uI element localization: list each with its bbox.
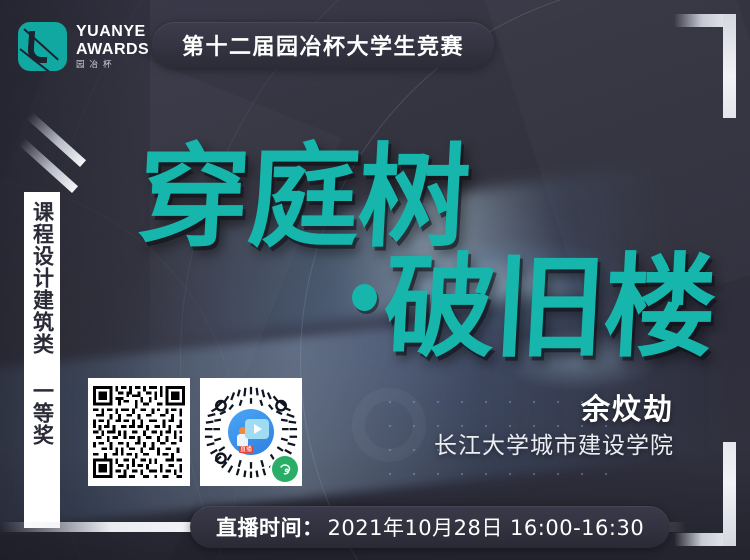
award-category-text: 课程设计建筑类 一等奖 xyxy=(32,201,53,446)
presenter-organization: 长江大学城市建设学院 xyxy=(434,434,674,459)
broadcast-time-label: 直播时间： xyxy=(216,512,324,542)
live-badge-label: 直播 xyxy=(239,446,253,453)
competition-title-text: 第十二届园冶杯大学生竞赛 xyxy=(182,29,464,61)
light-flare xyxy=(390,240,630,330)
yuanye-logo-icon xyxy=(18,22,67,71)
corner-bracket-top-right xyxy=(674,14,736,118)
logo-chinese-name: 园冶杯 xyxy=(76,61,149,70)
wechat-miniprogram-qr[interactable]: 直播 xyxy=(200,378,302,486)
competition-title-pill: 第十二届园冶杯大学生竞赛 xyxy=(152,22,494,68)
qr-code-icon xyxy=(93,383,185,481)
broadcast-time-value: 2021年10月28日 16:00-16:30 xyxy=(328,512,645,542)
light-flare xyxy=(500,330,660,390)
miniprogram-center-icon: 直播 xyxy=(228,409,274,455)
live-play-icon xyxy=(245,419,269,439)
presenter-name: 余炆劫 xyxy=(434,394,674,426)
qr-code[interactable] xyxy=(88,378,190,486)
bracket-vertical xyxy=(723,442,736,546)
broadcast-time-pill: 直播时间： 2021年10月28日 16:00-16:30 xyxy=(190,506,670,548)
footer-rule-left xyxy=(0,522,200,532)
presenter-block: 余炆劫 长江大学城市建设学院 xyxy=(434,394,674,459)
poster-root: YUANYE AWARDS 园冶杯 第十二届园冶杯大学生竞赛 课程设计建筑类 一… xyxy=(0,0,750,560)
brand-logo: YUANYE AWARDS 园冶杯 xyxy=(18,22,149,71)
logo-line1: YUANYE xyxy=(76,24,149,40)
bracket-vertical xyxy=(723,14,736,118)
wechat-miniprogram-badge-icon xyxy=(272,456,298,482)
miniprogram-glyph-icon xyxy=(277,461,293,477)
award-category-bar: 课程设计建筑类 一等奖 xyxy=(24,192,60,528)
qr-code-group: 直播 xyxy=(88,378,302,486)
logo-text: YUANYE AWARDS 园冶杯 xyxy=(76,24,149,70)
logo-line2: AWARDS xyxy=(76,42,149,58)
